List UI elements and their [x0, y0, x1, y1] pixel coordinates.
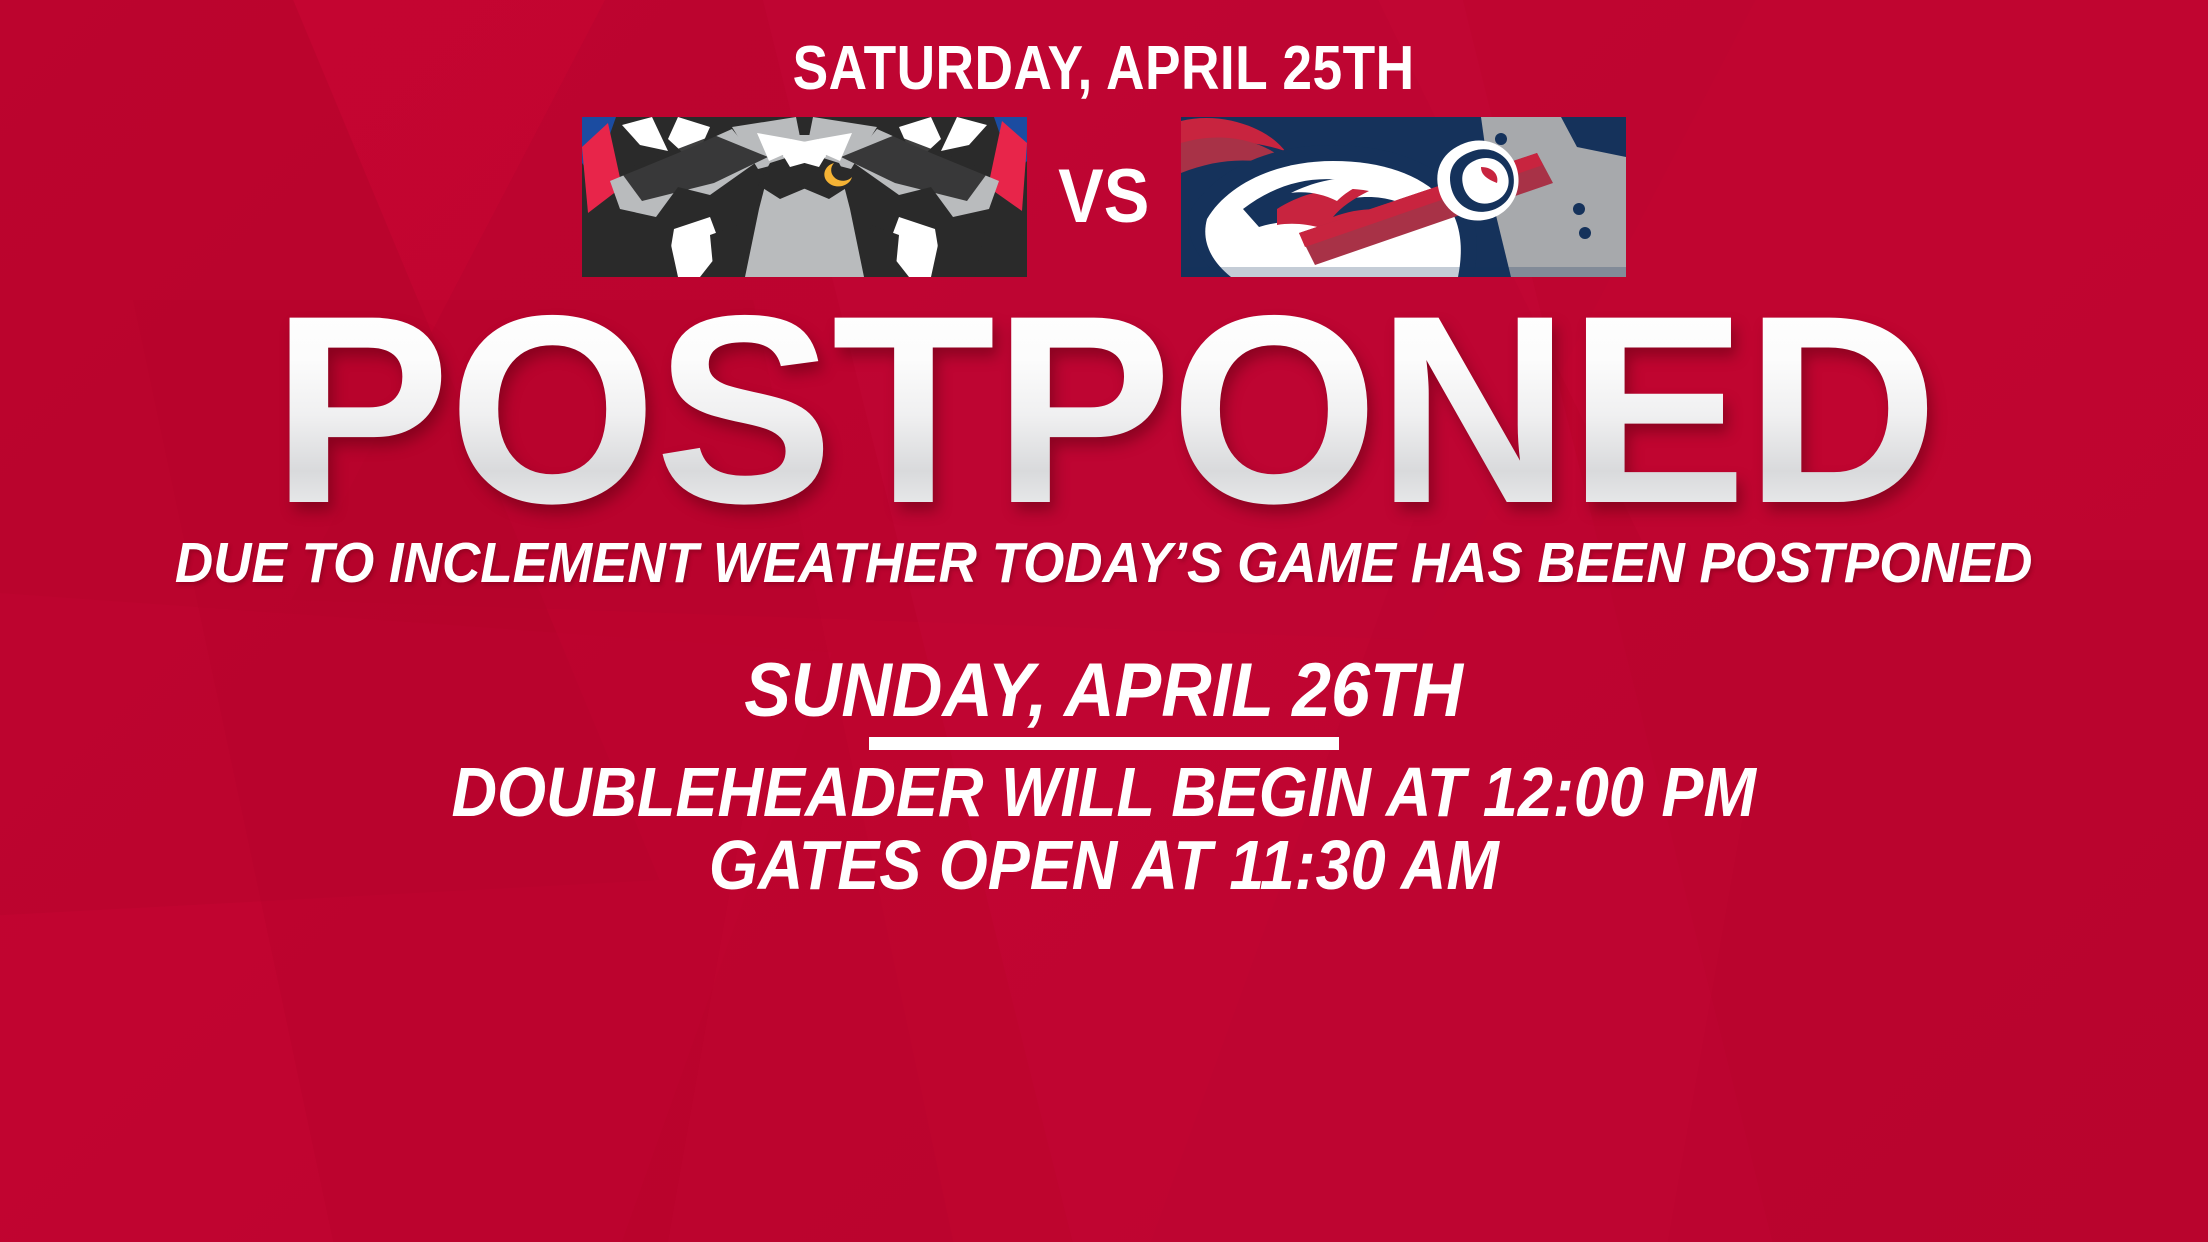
gates-open-time: GATES OPEN AT 11:30 AM	[709, 829, 1499, 902]
matchup-row: VS	[582, 117, 1625, 277]
content-layer: SATURDAY, APRIL 25TH	[0, 0, 2208, 1242]
away-team-logo	[1181, 117, 1626, 277]
home-team-logo	[582, 117, 1027, 277]
doubleheader-start-time: DOUBLEHEADER WILL BEGIN AT 12:00 PM	[452, 756, 1756, 829]
reschedule-block: SUNDAY, APRIL 26TH DOUBLEHEADER WILL BEG…	[379, 651, 1828, 901]
status-headline: POSTPONED	[272, 281, 1937, 538]
postponement-graphic: SATURDAY, APRIL 25TH	[0, 0, 2208, 1242]
status-headline-wrap: POSTPONED	[0, 281, 2208, 538]
reschedule-date: SUNDAY, APRIL 26TH	[745, 651, 1464, 731]
game-date-heading: SATURDAY, APRIL 25TH	[793, 36, 1415, 101]
postponement-reason: DUE TO INCLEMENT WEATHER TODAY’S GAME HA…	[175, 532, 2032, 595]
versus-label: VS	[1057, 159, 1152, 235]
reschedule-underline	[869, 737, 1339, 750]
